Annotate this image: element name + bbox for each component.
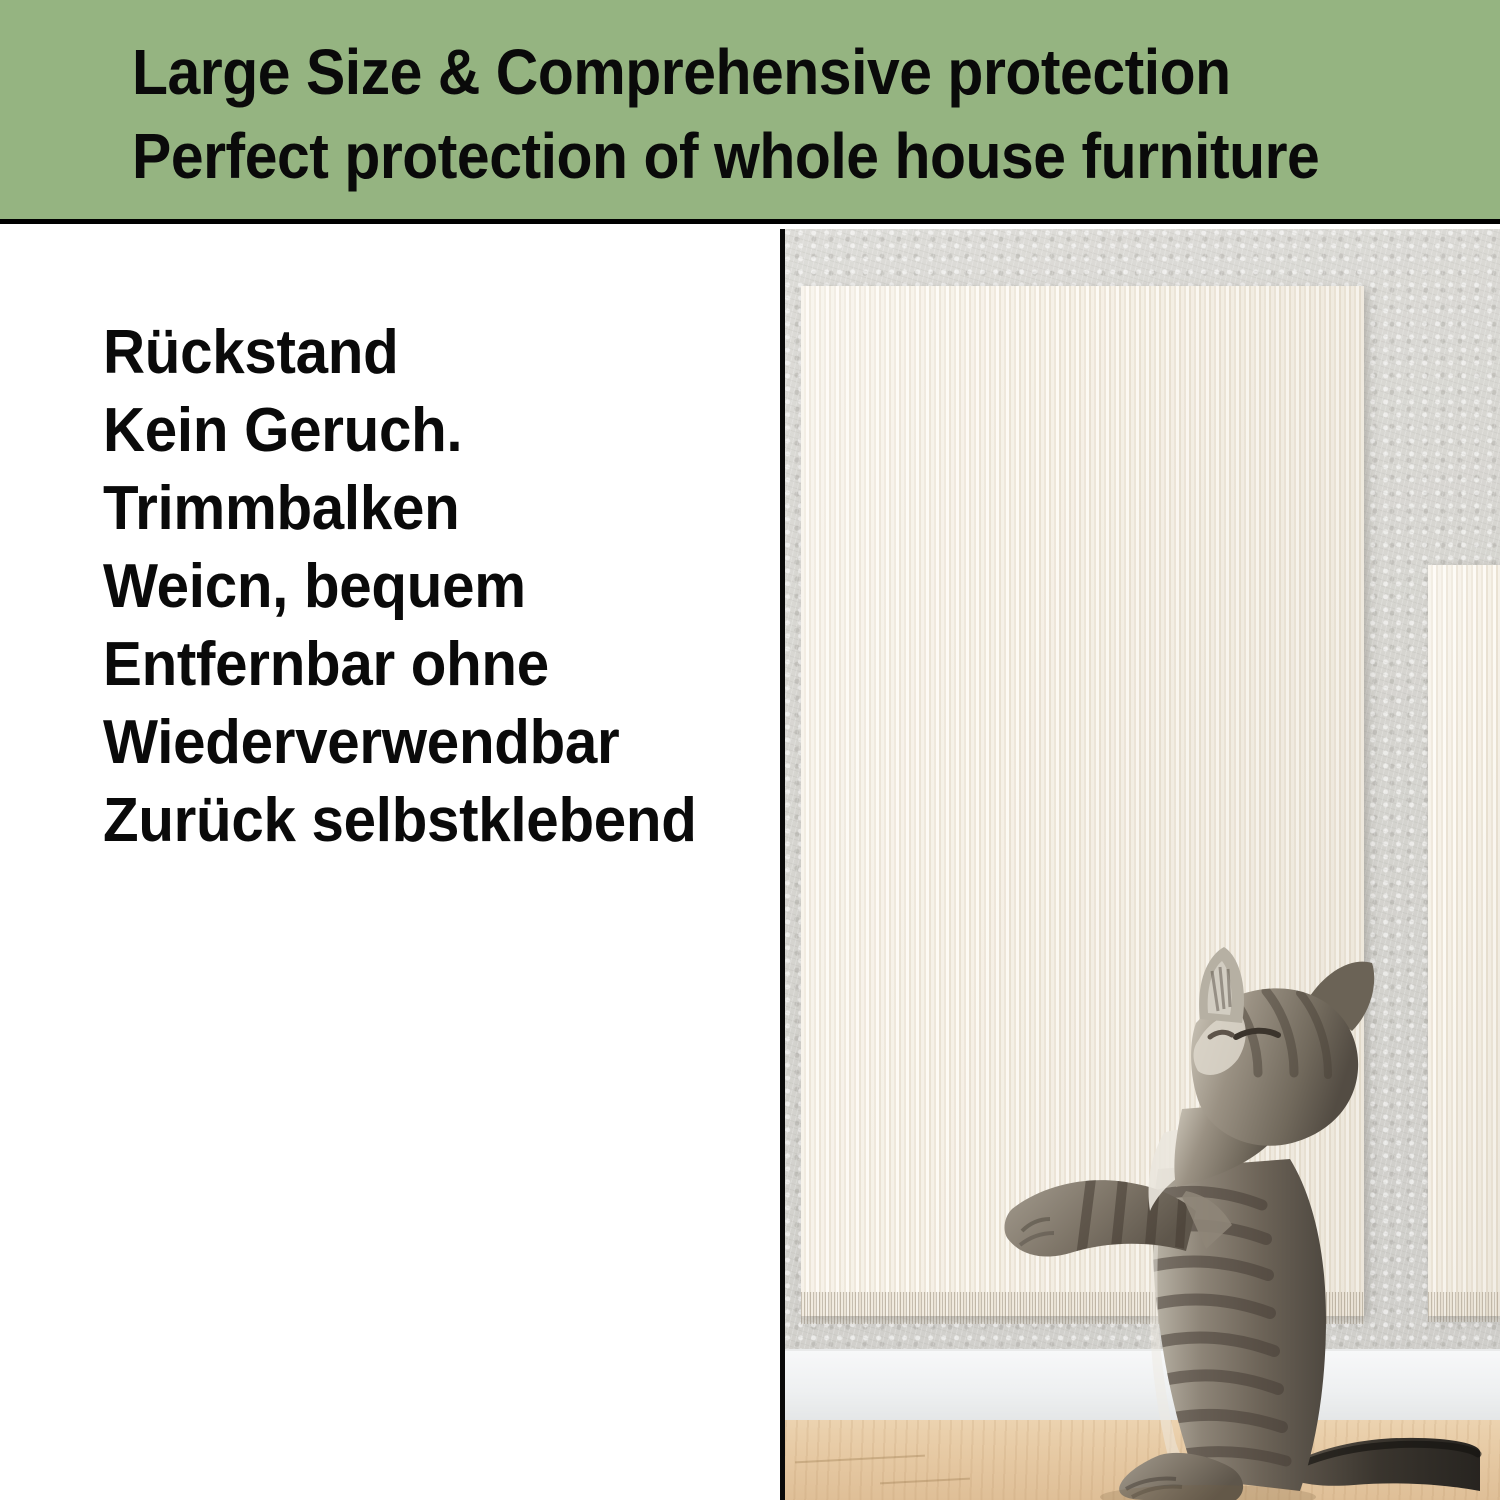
header-line-1: Large Size & Comprehensive protection (132, 30, 1328, 114)
feature-item: Zurück selbstklebend (103, 782, 723, 860)
header-text-block: Large Size & Comprehensive protection Pe… (132, 30, 1432, 198)
cat-tail (1296, 1438, 1480, 1491)
feature-item: Wiederverwendbar (103, 704, 723, 782)
feature-item: Weicn, bequem (103, 548, 723, 626)
header-banner: Large Size & Comprehensive protection Pe… (0, 0, 1500, 224)
floor-seam (880, 1478, 970, 1485)
feature-panel: Rückstand Kein Geruch. Trimmbalken Weicn… (0, 229, 780, 1500)
feature-item: Trimmbalken (103, 470, 723, 548)
panel-divider (780, 229, 785, 1500)
header-line-2: Perfect protection of whole house furnit… (132, 114, 1328, 198)
feature-item: Entfernbar ohne (103, 626, 723, 704)
product-marketing-image: Large Size & Comprehensive protection Pe… (0, 0, 1500, 1500)
feature-item: Kein Geruch. (103, 392, 723, 470)
feature-list: Rückstand Kein Geruch. Trimmbalken Weicn… (103, 314, 763, 860)
tabby-cat (1000, 919, 1480, 1500)
floor-seam (795, 1455, 925, 1464)
cat-ear-near (1199, 947, 1244, 1023)
feature-item: Rückstand (103, 314, 723, 392)
product-photo (785, 229, 1500, 1500)
